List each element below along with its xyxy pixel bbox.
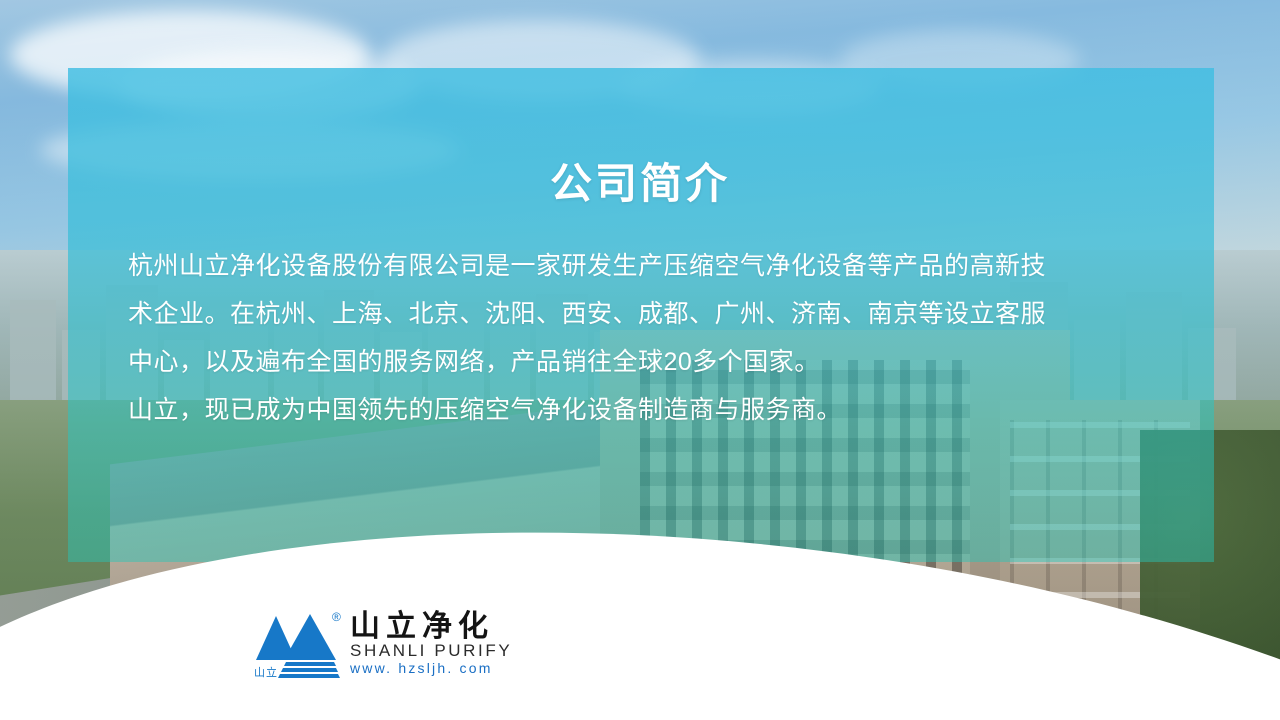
registered-trademark-icon: ®: [332, 610, 341, 624]
brand-name-en: SHANLI PURIFY: [350, 641, 512, 660]
body-line: 中心，以及遍布全国的服务网络，产品销往全球20多个国家。: [128, 338, 1108, 386]
brand-logo: ® 山立 山立净化 SHANLI PURIFY www. hzsljh. com: [256, 608, 512, 678]
presentation-slide: 公司简介 杭州山立净化设备股份有限公司是一家研发生产压缩空气净化设备等产品的高新…: [0, 0, 1280, 720]
body-line: 山立，现已成为中国领先的压缩空气净化设备制造商与服务商。: [128, 386, 1108, 434]
body-line: 杭州山立净化设备股份有限公司是一家研发生产压缩空气净化设备等产品的高新技: [128, 242, 1108, 290]
mountain-logo-caption: 山立: [254, 664, 278, 680]
brand-website[interactable]: www. hzsljh. com: [350, 660, 512, 676]
brand-name-cn: 山立净化: [350, 611, 512, 642]
page-title: 公司简介: [0, 150, 1280, 211]
mountain-logo-icon: ® 山立: [256, 608, 340, 678]
body-line: 术企业。在杭州、上海、北京、沈阳、西安、成都、广州、济南、南京等设立客服: [128, 290, 1108, 338]
brand-wordmark: 山立净化 SHANLI PURIFY www. hzsljh. com: [350, 611, 512, 678]
white-curve-decoration: [0, 470, 1280, 720]
body-text-block: 杭州山立净化设备股份有限公司是一家研发生产压缩空气净化设备等产品的高新技 术企业…: [128, 242, 1108, 434]
